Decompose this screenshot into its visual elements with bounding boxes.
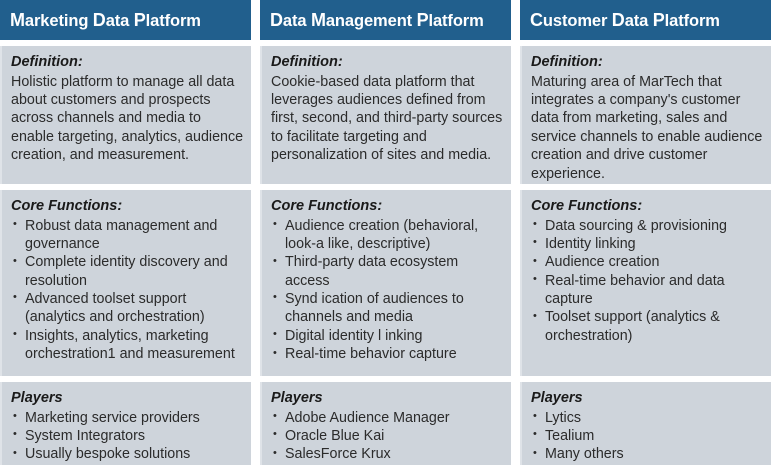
list-item: Audience creation (behavioral, look-a li… (271, 217, 505, 254)
column-marketing-data-platform: Marketing Data Platform Definition: Holi… (0, 0, 251, 466)
definition-panel: Definition: Holistic platform to manage … (0, 46, 251, 184)
list-item: Oracle Blue Kai (271, 427, 505, 445)
list-item: Third-party data ecosystem access (271, 253, 505, 290)
definition-text: Maturing area of MarTech that integrates… (531, 73, 765, 184)
players-heading: Players (271, 389, 505, 408)
definition-panel: Definition: Cookie-based data platform t… (260, 46, 511, 184)
column-title: Marketing Data Platform (10, 11, 201, 30)
core-functions-heading: Core Functions: (11, 197, 245, 216)
players-list: Adobe Audience Manager Oracle Blue Kai S… (271, 409, 505, 464)
list-item: Lytics (531, 409, 765, 427)
list-item: Robust data management and governance (11, 217, 245, 254)
players-heading: Players (11, 389, 245, 408)
list-item: Tealium (531, 427, 765, 445)
list-item: Usually bespoke solutions (11, 445, 245, 463)
players-list: Lytics Tealium Many others (531, 409, 765, 464)
core-functions-list: Audience creation (behavioral, look-a li… (271, 217, 505, 364)
core-functions-list: Robust data management and governance Co… (11, 217, 245, 364)
list-item: Toolset support (analytics & orchestrati… (531, 308, 765, 345)
comparison-board: Marketing Data Platform Definition: Holi… (0, 0, 771, 466)
definition-text: Cookie-based data platform that leverage… (271, 73, 505, 165)
column-title: Data Management Platform (270, 11, 484, 30)
players-panel: Players Adobe Audience Manager Oracle Bl… (260, 382, 511, 465)
list-item: Many others (531, 445, 765, 463)
definition-heading: Definition: (11, 53, 245, 72)
list-item: Synd ication of audiences to channels an… (271, 290, 505, 327)
core-functions-list: Data sourcing & provisioning Identity li… (531, 217, 765, 346)
list-item: Audience creation (531, 253, 765, 271)
list-item: Data sourcing & provisioning (531, 217, 765, 235)
list-item: Advanced toolset support (analytics and … (11, 290, 245, 327)
core-functions-heading: Core Functions: (271, 197, 505, 216)
players-list: Marketing service providers System Integ… (11, 409, 245, 464)
list-item: Digital identity l inking (271, 327, 505, 345)
players-heading: Players (531, 389, 765, 408)
definition-heading: Definition: (271, 53, 505, 72)
definition-text: Holistic platform to manage all data abo… (11, 73, 245, 165)
core-functions-panel: Core Functions: Robust data management a… (0, 190, 251, 376)
list-item: Adobe Audience Manager (271, 409, 505, 427)
list-item: Complete identity discovery and resoluti… (11, 253, 245, 290)
list-item: Real-time behavior and data capture (531, 272, 765, 309)
players-panel: Players Marketing service providers Syst… (0, 382, 251, 465)
core-functions-panel: Core Functions: Audience creation (behav… (260, 190, 511, 376)
list-item: Insights, analytics, marketing orchestra… (11, 327, 245, 364)
players-panel: Players Lytics Tealium Many others (520, 382, 771, 465)
list-item: Real-time behavior capture (271, 345, 505, 363)
column-customer-data-platform: Customer Data Platform Definition: Matur… (520, 0, 771, 466)
column-data-management-platform: Data Management Platform Definition: Coo… (260, 0, 511, 466)
definition-heading: Definition: (531, 53, 765, 72)
list-item: System Integrators (11, 427, 245, 445)
column-header-data-management-platform: Data Management Platform (260, 0, 511, 40)
list-item: Identity linking (531, 235, 765, 253)
column-header-marketing-data-platform: Marketing Data Platform (0, 0, 251, 40)
core-functions-panel: Core Functions: Data sourcing & provisio… (520, 190, 771, 376)
definition-panel: Definition: Maturing area of MarTech tha… (520, 46, 771, 184)
column-title: Customer Data Platform (530, 11, 720, 30)
column-header-customer-data-platform: Customer Data Platform (520, 0, 771, 40)
core-functions-heading: Core Functions: (531, 197, 765, 216)
list-item: SalesForce Krux (271, 445, 505, 463)
list-item: Marketing service providers (11, 409, 245, 427)
